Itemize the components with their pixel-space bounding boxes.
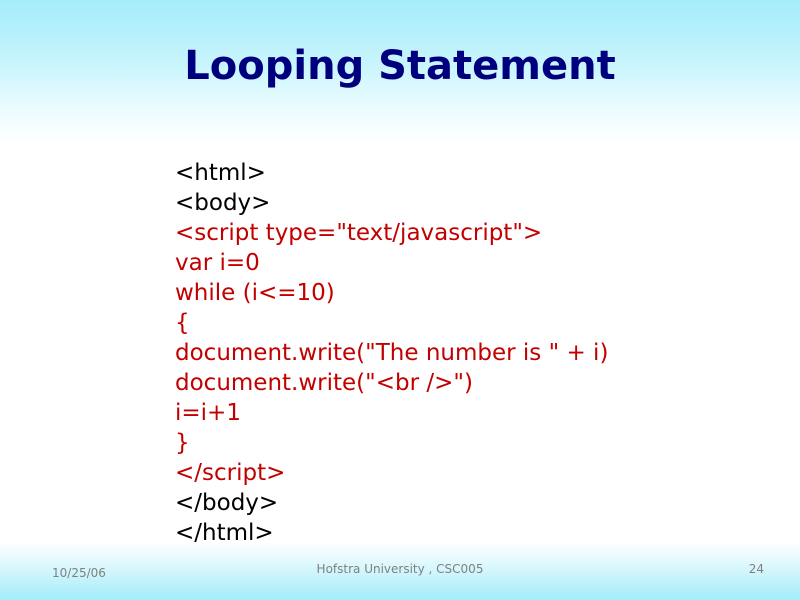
code-line: } [175,428,775,458]
code-line: <html> [175,158,775,188]
code-line: while (i<=10) [175,278,775,308]
slide: Looping Statement <html><body><script ty… [0,0,800,600]
code-line: var i=0 [175,248,775,278]
footer-page-number: 24 [0,562,764,576]
code-line: <script type="text/javascript"> [175,218,775,248]
slide-title: Looping Statement [0,42,800,90]
slide-footer: 10/25/06 Hofstra University , CSC005 24 [0,554,800,600]
code-block: <html><body><script type="text/javascrip… [175,158,775,548]
code-line: </body> [175,488,775,518]
code-line: </html> [175,518,775,548]
code-line: { [175,308,775,338]
code-line: </script> [175,458,775,488]
code-line: i=i+1 [175,398,775,428]
code-line: <body> [175,188,775,218]
code-line: document.write("<br />") [175,368,775,398]
code-line: document.write("The number is " + i) [175,338,775,368]
